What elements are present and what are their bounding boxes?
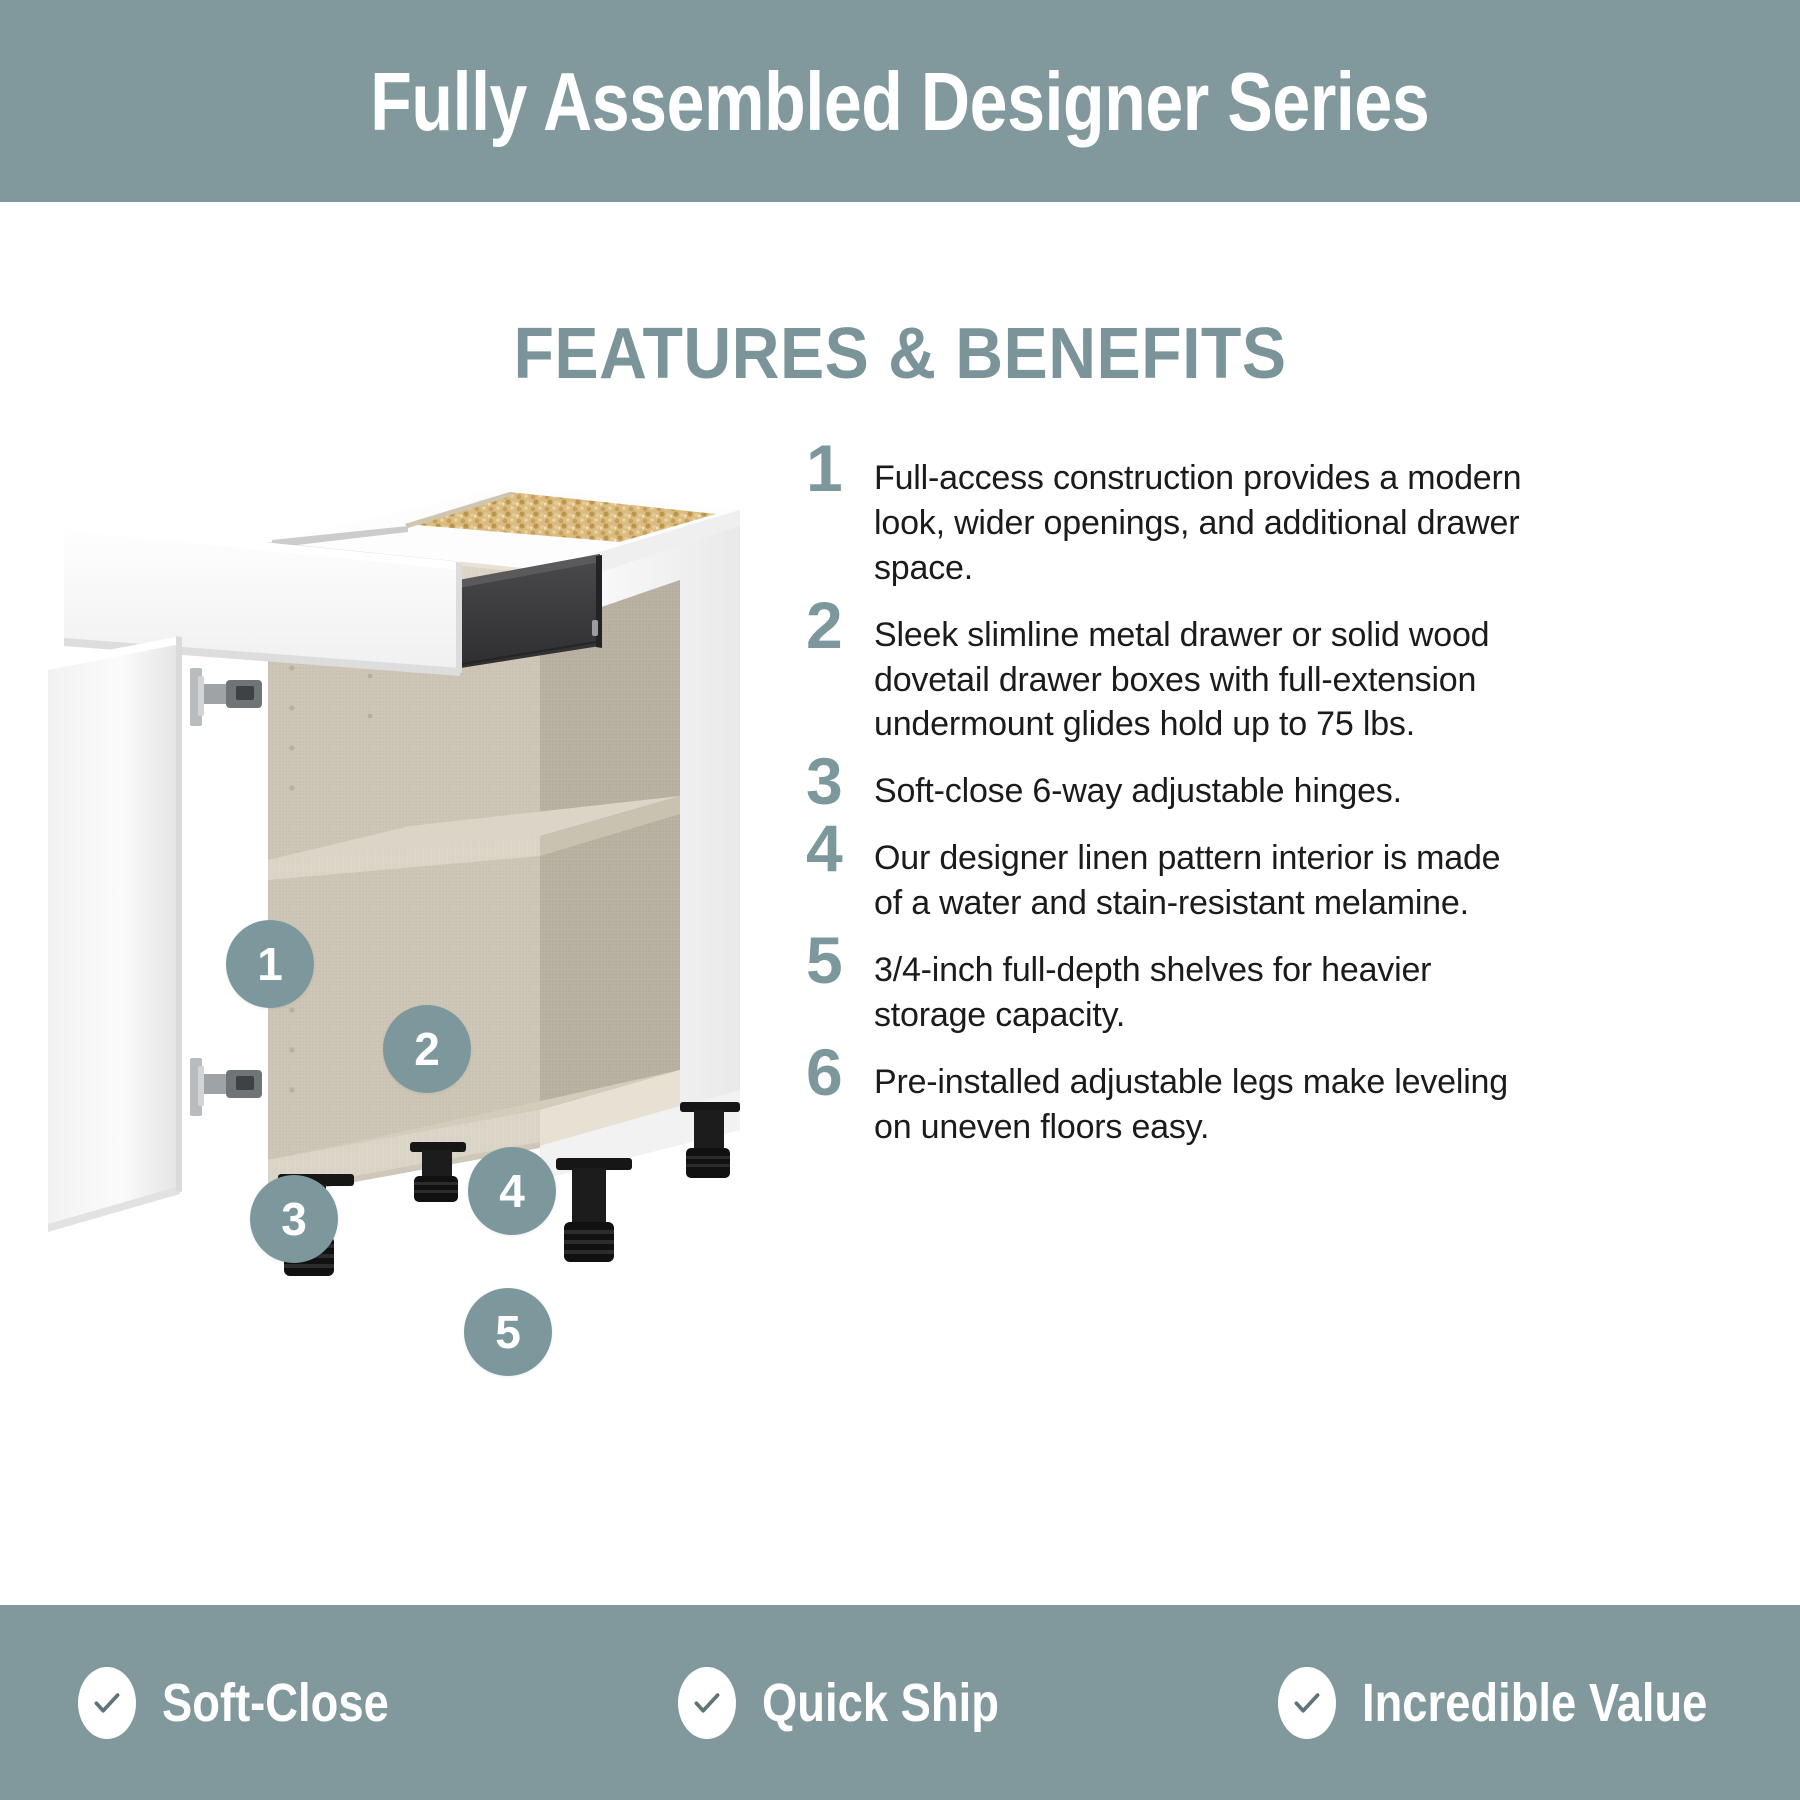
cabinet-diagram-svg xyxy=(40,470,800,1330)
page-footer: Soft-Close Quick Ship Incredible Value xyxy=(0,1605,1800,1800)
feature-text-6: Pre-installed adjustable legs make level… xyxy=(874,1056,1526,1150)
feature-text-2: Sleek slimline metal drawer or solid woo… xyxy=(874,609,1526,748)
section-title: FEATURES & BENEFITS xyxy=(72,318,1728,390)
feature-text-1: Full-access construction provides a mode… xyxy=(874,452,1526,591)
feature-number-2: 2 xyxy=(806,595,874,656)
feature-text-5: 3/4-inch full-depth shelves for heavier … xyxy=(874,944,1526,1038)
check-circle-icon xyxy=(678,1667,736,1739)
check-circle-icon xyxy=(1278,1667,1336,1739)
feature-item-6: 6 Pre-installed adjustable legs make lev… xyxy=(806,1056,1526,1150)
adjustable-leg-front-right xyxy=(556,1158,632,1262)
footer-item-quick-ship: Quick Ship xyxy=(600,1667,1200,1739)
footer-label-incredible-value: Incredible Value xyxy=(1362,1676,1707,1730)
feature-number-4: 4 xyxy=(806,818,874,879)
footer-item-soft-close: Soft-Close xyxy=(0,1667,600,1739)
feature-text-4: Our designer linen pattern interior is m… xyxy=(874,832,1526,926)
footer-item-incredible-value: Incredible Value xyxy=(1200,1667,1800,1739)
footer-label-quick-ship: Quick Ship xyxy=(762,1676,999,1730)
callout-badge-2: 2 xyxy=(383,1005,471,1093)
feature-item-1: 1 Full-access construction provides a mo… xyxy=(806,452,1526,591)
soft-close-hinge-lower xyxy=(190,1058,262,1116)
feature-item-4: 4 Our designer linen pattern interior is… xyxy=(806,832,1526,926)
page-header: Fully Assembled Designer Series xyxy=(0,0,1800,202)
callout-badge-4: 4 xyxy=(468,1147,556,1235)
feature-number-1: 1 xyxy=(806,438,874,499)
check-circle-icon xyxy=(78,1667,136,1739)
callout-badge-5: 5 xyxy=(464,1288,552,1376)
feature-item-5: 5 3/4-inch full-depth shelves for heavie… xyxy=(806,944,1526,1038)
soft-close-hinge-upper xyxy=(190,668,262,726)
feature-item-3: 3 Soft-close 6-way adjustable hinges. xyxy=(806,765,1526,814)
feature-number-5: 5 xyxy=(806,930,874,991)
feature-text-3: Soft-close 6-way adjustable hinges. xyxy=(874,765,1526,814)
feature-number-3: 3 xyxy=(806,751,874,812)
callout-badge-3: 3 xyxy=(250,1175,338,1263)
footer-label-soft-close: Soft-Close xyxy=(162,1676,389,1730)
infographic-page: Fully Assembled Designer Series FEATURES… xyxy=(0,0,1800,1800)
cabinet-door-open xyxy=(48,636,182,1232)
features-list: 1 Full-access construction provides a mo… xyxy=(806,452,1526,1167)
page-title: Fully Assembled Designer Series xyxy=(370,60,1429,143)
callout-badge-1: 1 xyxy=(226,920,314,1008)
feature-number-6: 6 xyxy=(806,1042,874,1103)
product-illustration: 1 2 3 4 5 6 xyxy=(40,470,800,1330)
feature-item-2: 2 Sleek slimline metal drawer or solid w… xyxy=(806,609,1526,748)
adjustable-leg-back-left xyxy=(410,1142,466,1202)
